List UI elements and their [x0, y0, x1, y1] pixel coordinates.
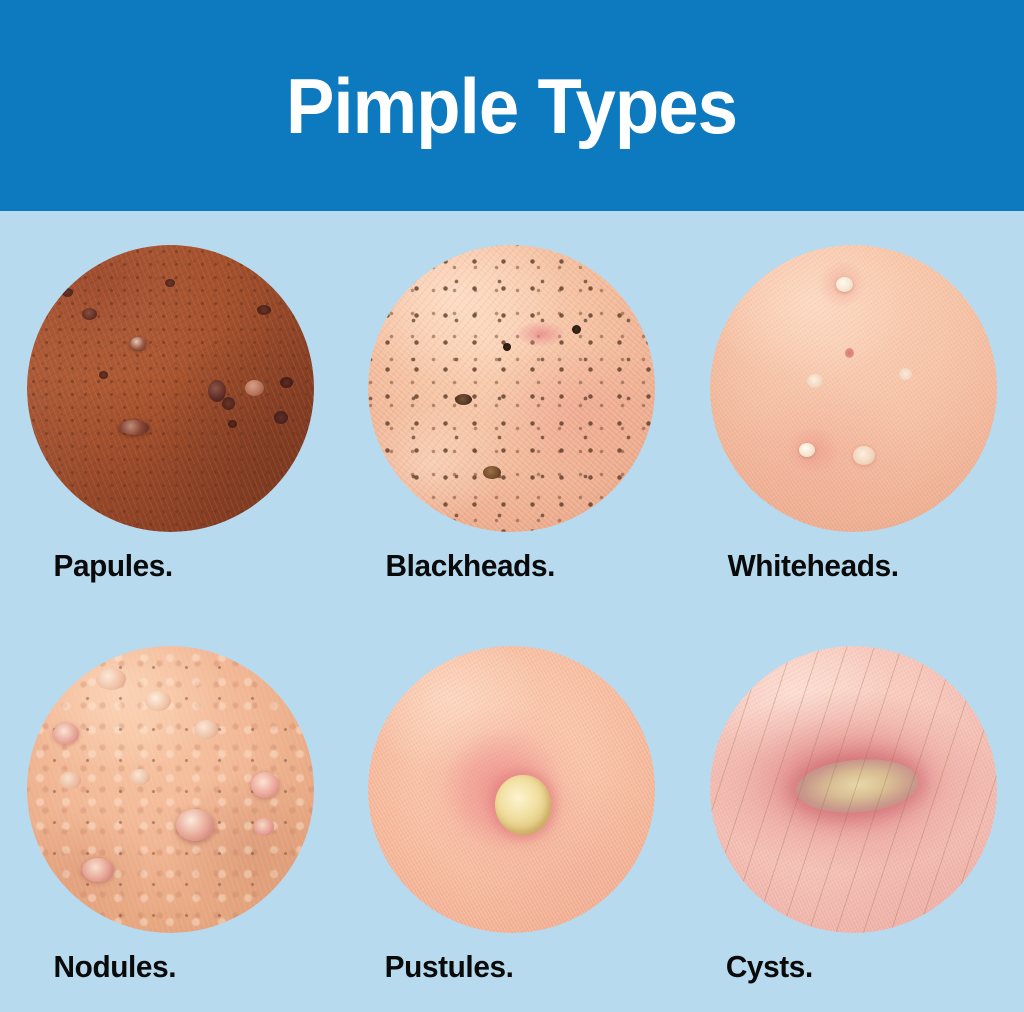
card-caption: Papules.	[54, 550, 173, 581]
lesion	[82, 858, 114, 882]
card-caption: Blackheads.	[386, 550, 555, 581]
lesion	[455, 394, 472, 405]
card-caption: Cysts.	[726, 951, 813, 982]
pimple-card-pustules[interactable]: Pustules.	[341, 612, 682, 1012]
page-title: Pimple Types	[286, 67, 737, 145]
pimple-card-blackheads[interactable]: Blackheads.	[341, 211, 682, 612]
lesion	[503, 343, 511, 351]
lesion	[194, 720, 218, 739]
card-caption: Whiteheads.	[727, 550, 898, 581]
pimple-type-grid: Papules. Blackheads.	[0, 211, 1024, 1012]
lesion	[59, 772, 81, 789]
lesion	[836, 277, 853, 292]
pimple-card-papules[interactable]: Papules.	[0, 211, 341, 612]
lesion	[845, 348, 854, 358]
nodules-photo	[27, 646, 314, 933]
card-caption: Pustules.	[385, 951, 514, 982]
lesion	[119, 420, 149, 435]
lesion	[280, 377, 293, 388]
pimple-card-cysts[interactable]: Cysts.	[683, 612, 1024, 1012]
lesion	[53, 723, 79, 744]
card-caption: Nodules.	[54, 951, 177, 982]
blackheads-photo	[368, 245, 655, 532]
cysts-photo	[710, 646, 997, 933]
lesion	[62, 288, 73, 297]
pimple-card-nodules[interactable]: Nodules.	[0, 612, 341, 1012]
pustule-head	[495, 775, 551, 835]
pimple-card-whiteheads[interactable]: Whiteheads.	[683, 211, 1024, 612]
lesion	[245, 380, 264, 396]
infographic-page: Pimple Types	[0, 0, 1024, 1012]
lesion	[254, 818, 274, 836]
pustules-photo	[368, 646, 655, 933]
lesion	[251, 772, 279, 798]
lesion	[799, 443, 815, 457]
papules-photo	[27, 245, 314, 532]
whiteheads-photo	[710, 245, 997, 532]
lesion	[82, 308, 97, 320]
header-banner: Pimple Types	[0, 0, 1024, 211]
